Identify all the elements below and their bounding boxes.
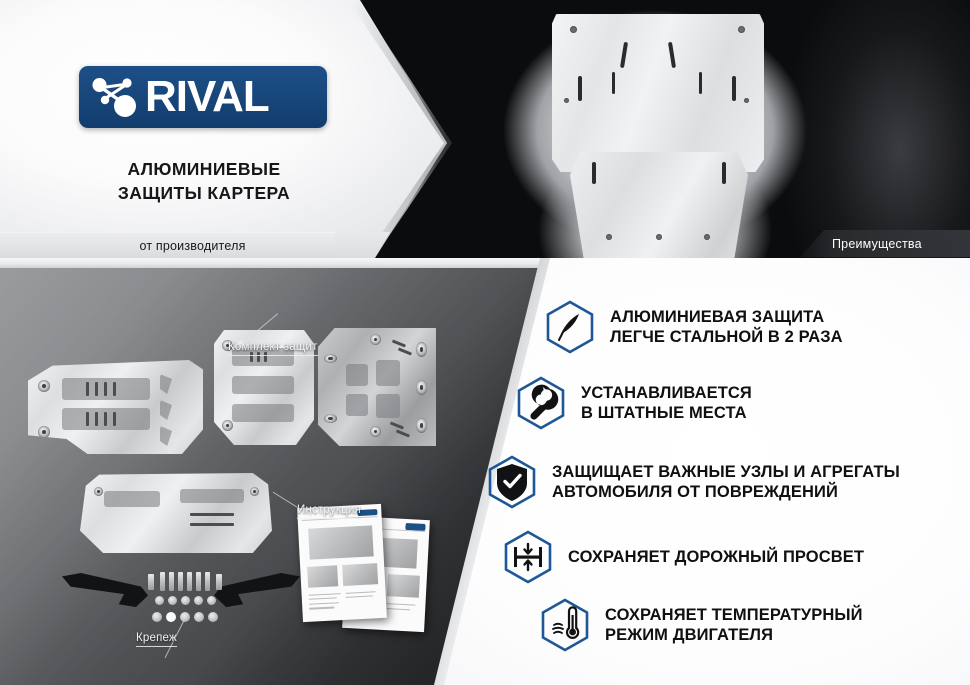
benefit-text-5: СОХРАНЯЕТ ТЕМПЕРАТУРНЫЙ РЕЖИМ ДВИГАТЕЛЯ (605, 605, 863, 645)
rival-logo: RIVAL (79, 66, 327, 128)
feather-icon (545, 300, 595, 354)
subtitle-band: от производителя (0, 232, 335, 259)
benefit-text-4: СОХРАНЯЕТ ДОРОЖНЫЙ ПРОСВЕТ (568, 547, 864, 567)
skid-plate-right (318, 328, 436, 446)
benefit-item-5: СОХРАНЯЕТ ТЕМПЕРАТУРНЫЙ РЕЖИМ ДВИГАТЕЛЯ (540, 598, 863, 652)
logo-wordmark: RIVAL (145, 75, 269, 119)
benefit-item-2: УСТАНАВЛИВАЕТСЯ В ШТАТНЫЕ МЕСТА (516, 376, 752, 430)
fasteners-callout-label: Крепеж (136, 632, 177, 647)
ground-clearance-icon (503, 530, 553, 584)
benefit-text-1: АЛЮМИНИЕВАЯ ЗАЩИТА ЛЕГЧЕ СТАЛЬНОЙ В 2 РА… (610, 307, 843, 347)
instruction-callout-label: Инструкция (297, 504, 361, 519)
installed-skid-plate-upper (552, 14, 764, 172)
advantages-tab: Преимущества (800, 230, 970, 257)
benefit-text-3: ЗАЩИЩАЕТ ВАЖНЫЕ УЗЛЫ И АГРЕГАТЫ АВТОМОБИ… (552, 462, 900, 502)
advantages-tab-label: Преимущества (800, 237, 922, 251)
shield-check-icon (487, 455, 537, 509)
benefit-text-2: УСТАНАВЛИВАЕТСЯ В ШТАТНЫЕ МЕСТА (581, 383, 752, 423)
page-title-line1: АЛЮМИНИЕВЫЕ (79, 158, 329, 182)
kit-callout-label: Комплект защит (228, 341, 318, 356)
instruction-sheet-front (297, 504, 387, 622)
molecule-icon (89, 73, 143, 121)
benefit-item-1: АЛЮМИНИЕВАЯ ЗАЩИТА ЛЕГЧЕ СТАЛЬНОЙ В 2 РА… (545, 300, 843, 354)
wrench-icon (516, 376, 566, 430)
benefit-item-3: ЗАЩИЩАЕТ ВАЖНЫЕ УЗЛЫ И АГРЕГАТЫ АВТОМОБИ… (487, 455, 900, 509)
page-title: АЛЮМИНИЕВЫЕ ЗАЩИТЫ КАРТЕРА (79, 158, 329, 205)
page-title-line2: ЗАЩИТЫ КАРТЕРА (79, 182, 329, 206)
promo-banner: RIVAL АЛЮМИНИЕВЫЕ ЗАЩИТЫ КАРТЕРА от прои… (0, 0, 970, 685)
thermometer-icon (540, 598, 590, 652)
benefit-item-4: СОХРАНЯЕТ ДОРОЖНЫЙ ПРОСВЕТ (503, 530, 864, 584)
skid-plate-bottom (80, 473, 272, 553)
subtitle-text: от производителя (89, 239, 245, 253)
